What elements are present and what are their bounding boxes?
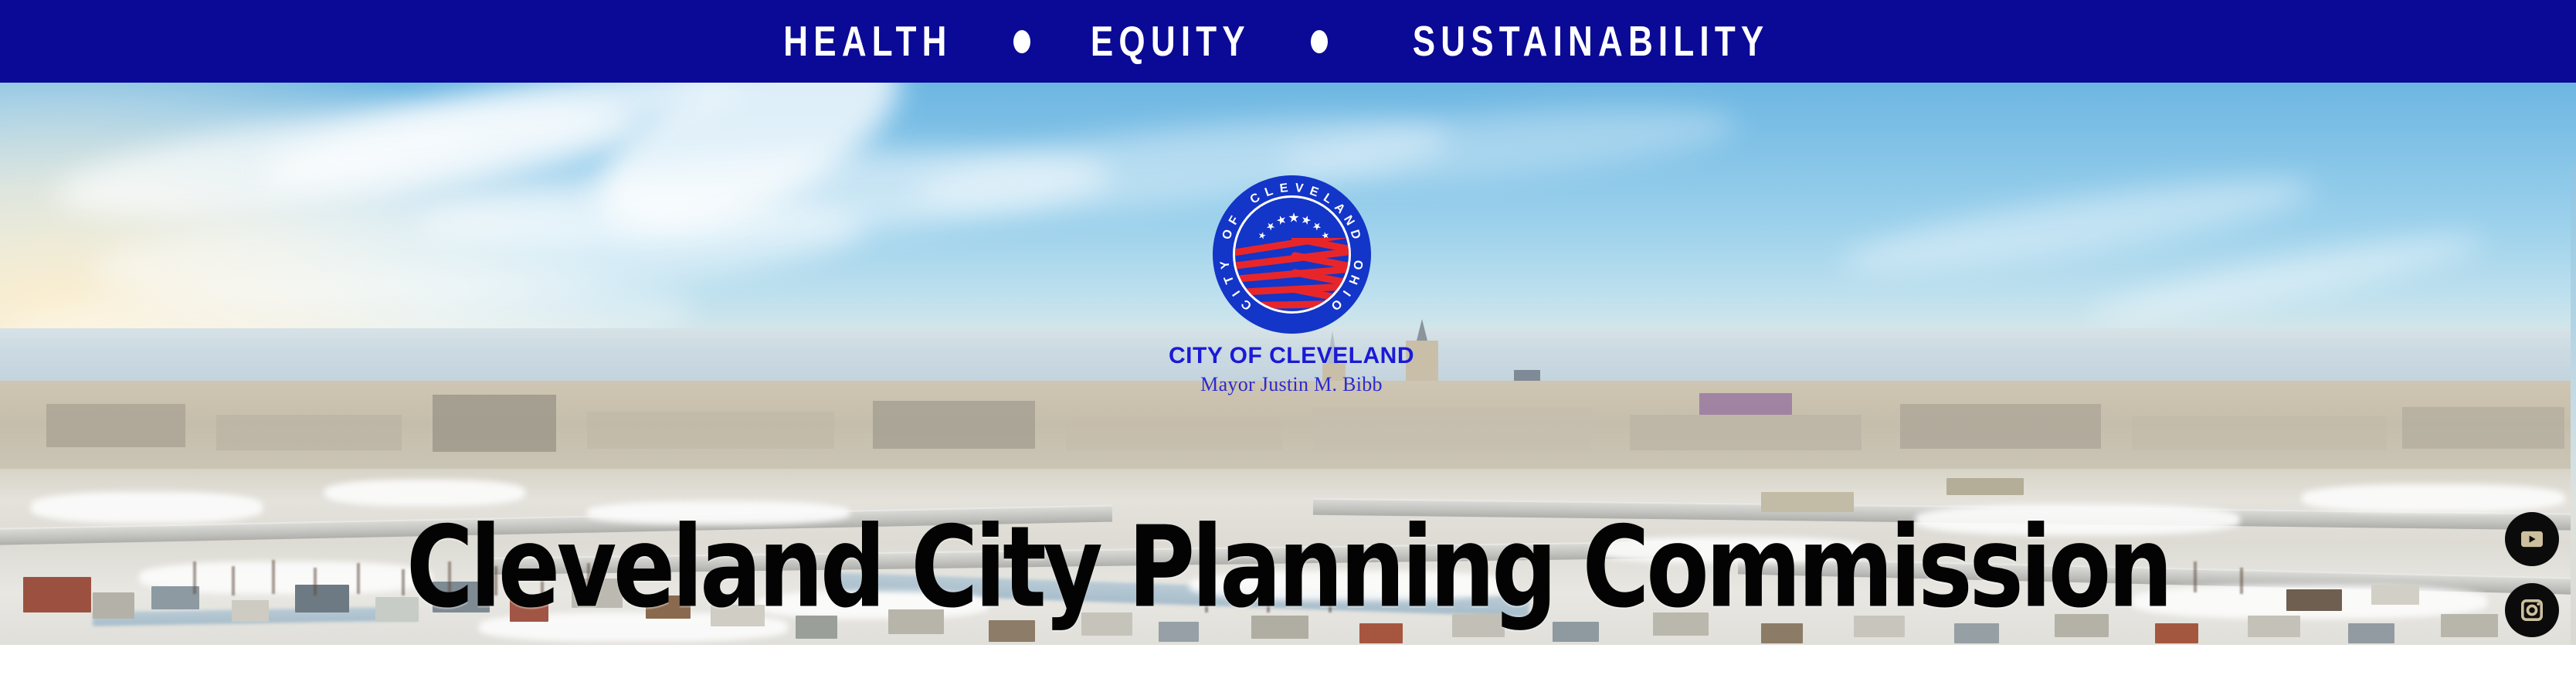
seal-inner-field: ★★★★★★★ [1233,195,1351,314]
social-links [2505,512,2559,645]
mayor-name-label: Mayor Justin M. Bibb [1200,373,1383,396]
page-banner: HEALTH EQUITY SUSTAINABILITY [0,0,2576,682]
star-icon: ★ [1310,219,1324,232]
seal-flag-icon [1235,238,1351,314]
youtube-icon[interactable] [2505,512,2559,566]
instagram-icon[interactable] [2505,583,2559,637]
tagline-bar: HEALTH EQUITY SUSTAINABILITY [0,0,2576,83]
tagline-words: HEALTH EQUITY SUSTAINABILITY [762,20,1814,63]
hero-photo: CITYOFCLEVELANDOHIO ★★★★★★★ [0,83,2576,645]
bullet-dot-icon-1 [1013,30,1030,53]
star-icon: ★ [1288,212,1299,225]
tagline-word-sustainability: SUSTAINABILITY [1412,20,1769,63]
star-icon: ★ [1274,212,1288,227]
tagline-word-health: HEALTH [783,20,952,63]
org-name-label: CITY OF CLEVELAND [1169,343,1414,369]
right-edge-strip [2571,165,2576,645]
tagline-word-equity: EQUITY [1091,20,1251,63]
city-logo-block: CITYOFCLEVELANDOHIO ★★★★★★★ [1168,175,1415,396]
city-of-cleveland-seal-icon: CITYOFCLEVELANDOHIO ★★★★★★★ [1213,175,1371,334]
foreground-neighborhood [0,469,2576,645]
bullet-dot-icon-2 [1311,30,1328,53]
